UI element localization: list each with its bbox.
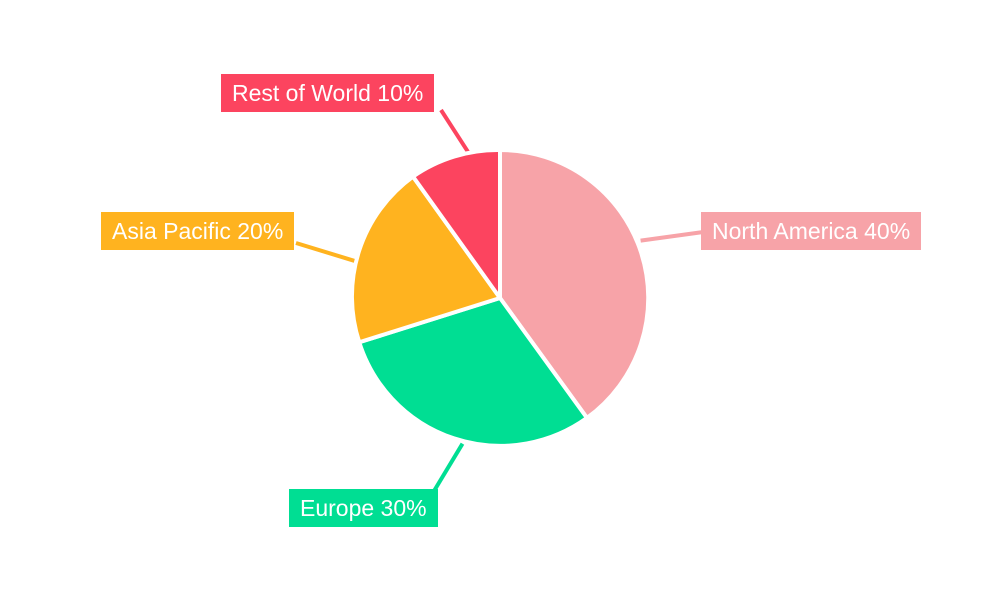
leader-line-rest-of-world bbox=[441, 110, 472, 157]
pie-label-europe-text: Europe 30% bbox=[300, 497, 427, 520]
leader-line-europe bbox=[434, 444, 463, 491]
pie-label-north-america-text: North America 40% bbox=[712, 220, 910, 243]
leader-line-asia-pacific bbox=[296, 243, 358, 262]
pie-label-europe: Europe 30% bbox=[289, 489, 438, 527]
leader-line-north-america bbox=[641, 232, 707, 241]
pie-label-north-america: North America 40% bbox=[701, 212, 921, 250]
pie-label-asia-pacific: Asia Pacific 20% bbox=[101, 212, 294, 250]
pie-label-rest-of-world: Rest of World 10% bbox=[221, 74, 434, 112]
pie-label-asia-pacific-text: Asia Pacific 20% bbox=[112, 220, 283, 243]
pie-label-rest-of-world-text: Rest of World 10% bbox=[232, 82, 423, 105]
pie-chart-figure: North America 40% Europe 30% Asia Pacifi… bbox=[0, 0, 1000, 600]
pie-slices-group bbox=[352, 150, 648, 446]
pie-chart-canvas bbox=[0, 0, 1000, 600]
